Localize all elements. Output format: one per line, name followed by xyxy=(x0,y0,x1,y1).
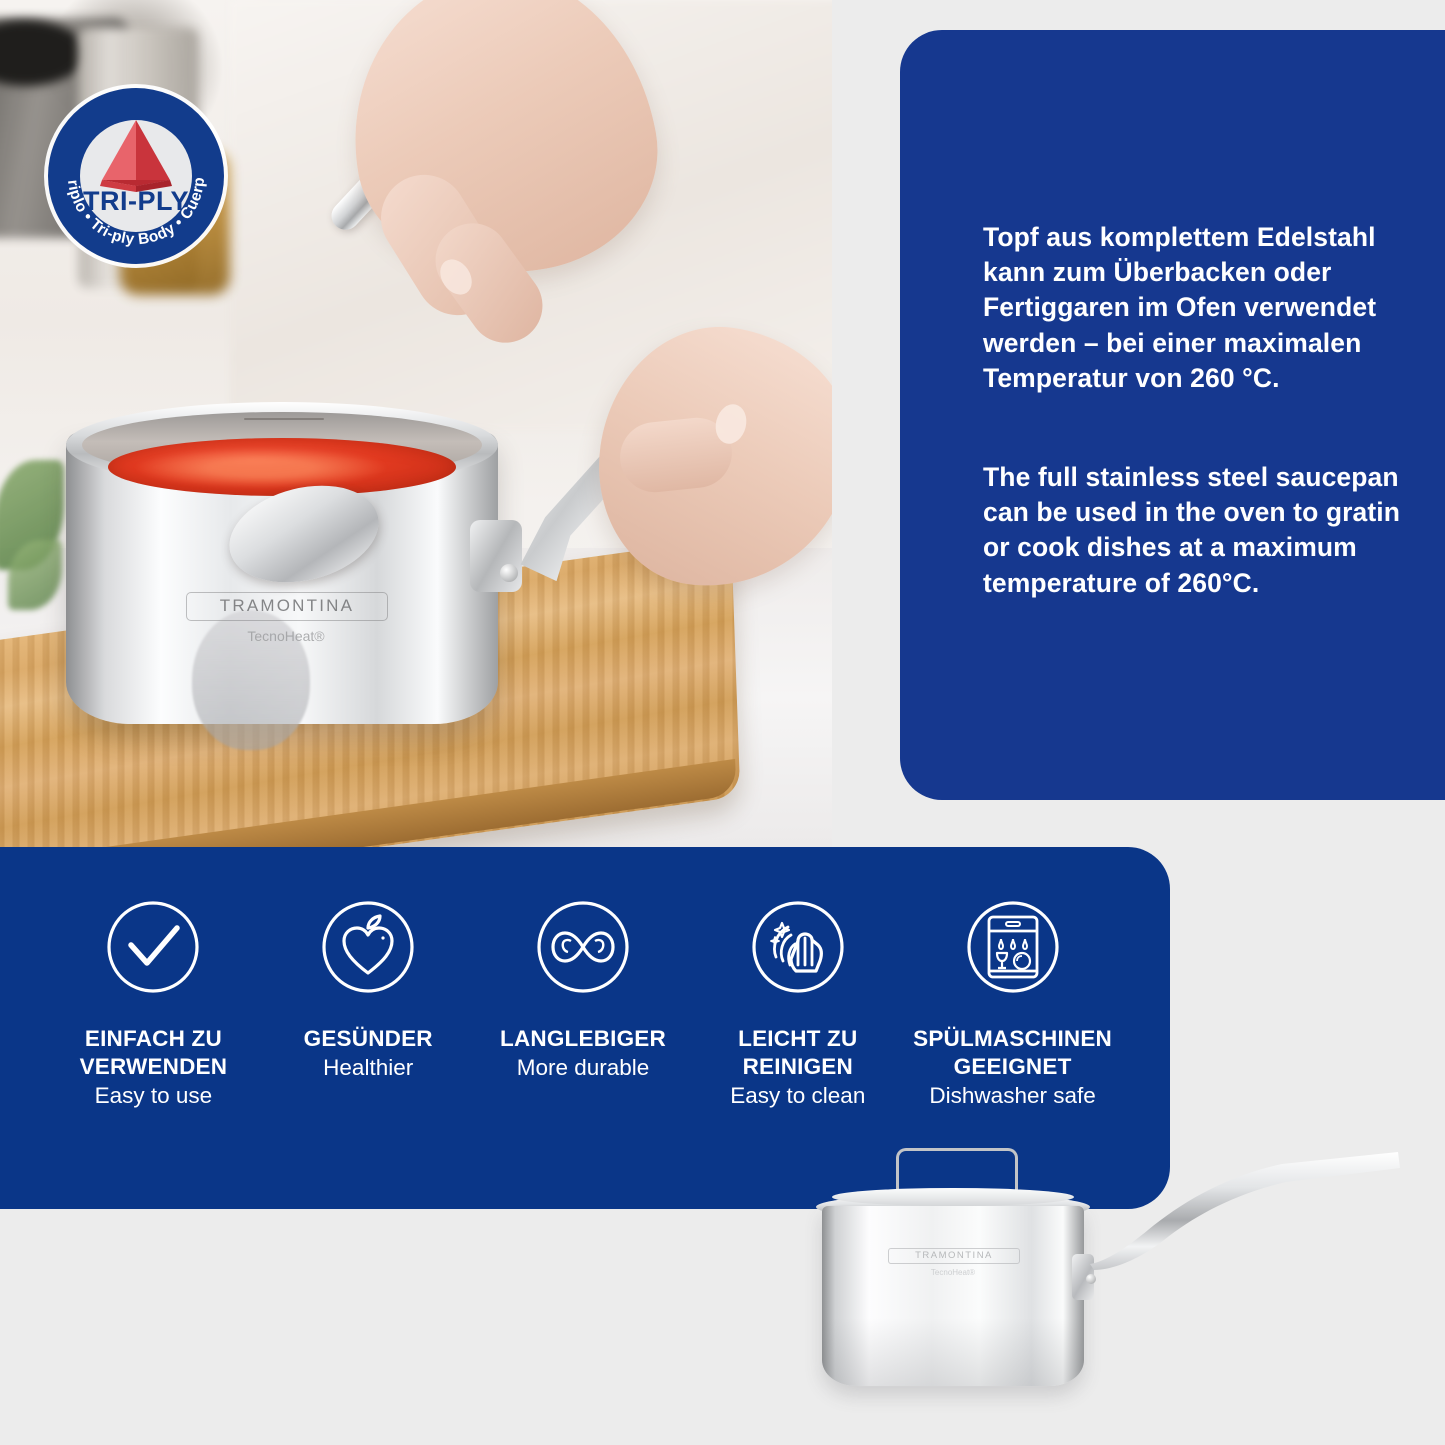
tomato-sauce-highlight xyxy=(136,448,386,488)
badge-center-text: TRI-PLY xyxy=(83,186,189,216)
product-sub-brand-label: TecnoHeat® xyxy=(888,1268,1018,1277)
saucepan-measure-mark-1 xyxy=(244,418,324,420)
infinity-icon xyxy=(531,895,635,999)
handle-shape xyxy=(1086,1146,1406,1270)
product-saucepan-shading xyxy=(822,1318,1084,1386)
product-shot: TRAMONTINA TecnoHeat® xyxy=(800,1128,1420,1428)
saucepan-sub-brand-label: TecnoHeat® xyxy=(186,628,386,644)
feature-label-de: LEICHT ZU REINIGEN xyxy=(738,1025,857,1081)
feature-label-de: SPÜLMASCHINEN GEEIGNET xyxy=(913,1025,1112,1081)
description-panel: Topf aus komplettem Edelstahl kann zum Ü… xyxy=(900,30,1445,800)
product-long-handle xyxy=(1086,1146,1406,1270)
description-text-de: Topf aus komplettem Edelstahl kann zum Ü… xyxy=(983,220,1403,396)
feature-label-de: LANGLEBIGER xyxy=(500,1025,666,1053)
feature-label-en: Healthier xyxy=(323,1054,413,1083)
feature-easy-to-clean: LEICHT ZU REINIGEN Easy to clean xyxy=(690,895,905,1111)
tri-ply-badge: TRI-PLY Corpo Triplo • Tri-ply Body • Cu… xyxy=(42,82,230,270)
saucepan-handle-rivet xyxy=(500,564,518,582)
feature-healthier: GESÜNDER Healthier xyxy=(261,895,476,1083)
product-handle-rivet xyxy=(1086,1274,1096,1284)
feature-label-en: Easy to use xyxy=(95,1082,213,1111)
check-circle-icon xyxy=(101,895,205,999)
hand-cleaning-icon xyxy=(746,895,850,999)
product-brand-label: TRAMONTINA xyxy=(888,1248,1020,1264)
description-text-en: The full stainless steel saucepan can be… xyxy=(983,460,1403,601)
feature-easy-to-use: EINFACH ZU VERWENDEN Easy to use xyxy=(46,895,261,1111)
feature-label-en: Easy to clean xyxy=(730,1082,865,1111)
saucepan-lid-top xyxy=(832,1188,1074,1206)
tri-ply-pyramid-icon: TRI-PLY Corpo Triplo • Tri-ply Body • Cu… xyxy=(42,82,230,270)
feature-label-en: More durable xyxy=(517,1054,650,1083)
feature-label-de: GESÜNDER xyxy=(304,1025,433,1053)
saucepan-handle-bracket xyxy=(470,520,522,592)
dishwasher-icon xyxy=(961,895,1065,999)
feature-more-durable: LANGLEBIGER More durable xyxy=(476,895,691,1083)
apple-heart-icon xyxy=(316,895,420,999)
feature-dishwasher-safe: SPÜLMASCHINEN GEEIGNET Dishwasher safe xyxy=(905,895,1120,1111)
feature-label-de: EINFACH ZU VERWENDEN xyxy=(80,1025,228,1081)
saucepan-brand-label: TRAMONTINA xyxy=(186,592,388,621)
marketing-infographic: TRAMONTINA TecnoHeat® xyxy=(0,0,1445,1445)
feature-label-en: Dishwasher safe xyxy=(929,1082,1095,1111)
